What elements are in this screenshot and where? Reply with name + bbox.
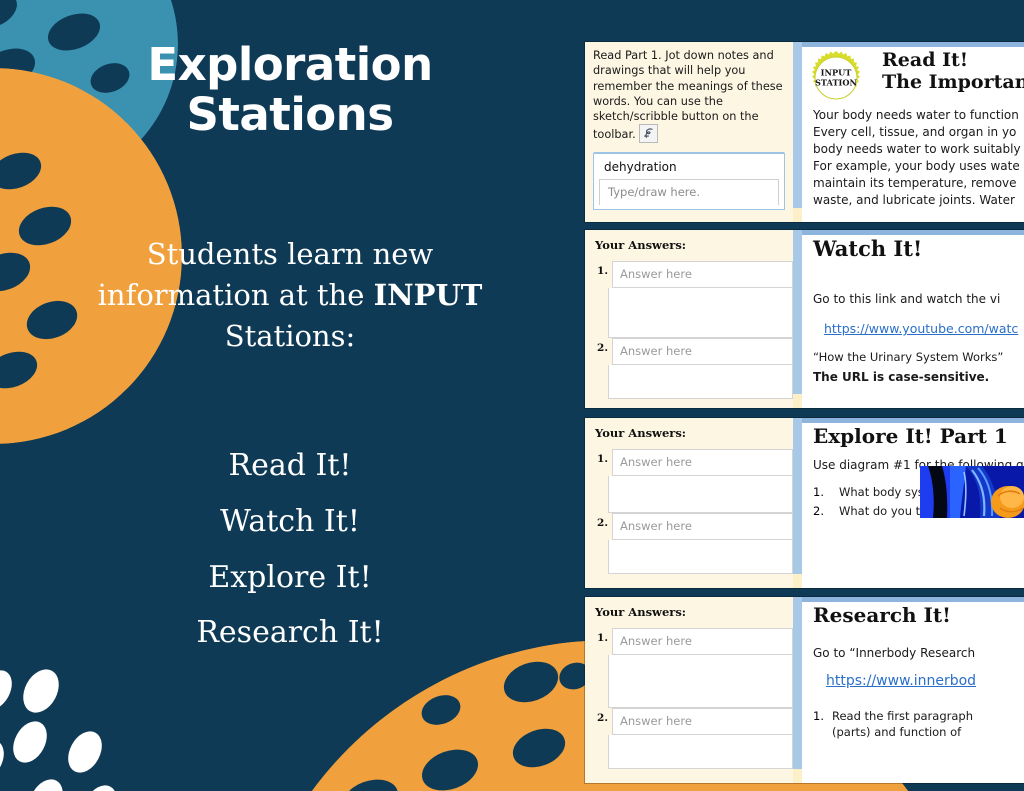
answer-input-1[interactable]: Answer here [612,449,793,476]
url-case-note: The URL is case-sensitive. [813,370,1024,384]
question-number: 2. [813,504,839,518]
question-text-continuation: (parts) and function of [832,725,961,739]
slide-canvas: Exploration Stations Students learn new … [0,0,1024,791]
body-line: For example, your body uses wate [813,158,1024,175]
answer-input-1[interactable]: Answer here [612,628,793,655]
answer-number: 1. [593,261,612,277]
worksheet-heading-line-1: Read It! [882,49,1024,71]
worksheet-pane: Research It! Go to “Innerbody Research h… [802,597,1024,783]
body-line: Every cell, tissue, and organ in yo [813,124,1024,141]
answer-row: 2. Answer here [593,708,793,735]
answer-row: 1. Answer here [593,449,793,476]
answer-number: 2. [593,708,612,724]
answer-textarea-body-2[interactable] [608,540,793,574]
answer-row: 2. Answer here [593,513,793,540]
answer-textarea-body-1[interactable] [608,476,793,513]
slide-text-column: Exploration Stations Students learn new … [0,0,580,791]
answers-pane: Your Answers: 1. Answer here 2. Answer h… [585,597,793,783]
vocab-word-card[interactable]: dehydration Type/draw here. [593,152,785,210]
worksheet-body: Explore It! Part 1 Use diagram #1 for th… [802,418,1024,518]
worksheet-body: Research It! Go to “Innerbody Research h… [802,597,1024,739]
worksheet-pane: Explore It! Part 1 Use diagram #1 for th… [802,418,1024,588]
answers-pane: Your Answers: 1. Answer here 2. Answer h… [585,230,793,408]
answer-textarea-body-1[interactable] [608,655,793,708]
screenshot-explore-it[interactable]: Your Answers: 1. Answer here 2. Answer h… [585,418,1024,588]
answer-number: 1. [593,628,612,644]
answer-number: 1. [593,449,612,465]
title-line-1: Exploration [147,38,432,91]
station-item-explore-it: Explore It! [40,550,540,606]
worksheet-heading-line-2: The Importance [882,71,1024,93]
station-item-watch-it: Watch It! [40,494,540,550]
subtitle-part-2: Stations: [225,319,356,353]
worksheet-body: INPUT STATION Read It! The Importance Yo… [802,42,1024,209]
answers-heading: Your Answers: [593,605,793,628]
question-number: 1. [813,709,832,723]
body-line: maintain its temperature, remove [813,175,1024,192]
badge-line-1: INPUT [821,68,853,78]
subtitle: Students learn new information at the IN… [70,234,510,358]
screenshot-watch-it[interactable]: Your Answers: 1. Answer here 2. Answer h… [585,230,1024,408]
watch-intro: Go to this link and watch the vi [813,291,1024,308]
notes-pane: Read Part 1. Jot down notes and drawings… [585,42,793,222]
answer-number: 2. [593,338,612,354]
question-row: 1. Read the first paragraph [813,709,1024,723]
pane-divider [793,230,802,408]
answer-textarea-body-2[interactable] [608,735,793,769]
worksheet-heading: Research It! [813,604,1024,627]
answer-row: 1. Answer here [593,628,793,655]
pane-divider [793,597,802,783]
anatomy-diagram-thumbnail [920,466,1024,518]
answers-heading: Your Answers: [593,238,793,261]
station-list: Read It! Watch It! Explore It! Research … [40,438,540,661]
screenshot-read-it[interactable]: Read Part 1. Jot down notes and drawings… [585,42,1024,222]
body-line: waste, and lubricate joints. Water [813,192,1024,209]
vocab-term: dehydration [594,154,784,179]
badge-line-2: STATION [815,78,858,88]
body-line: body needs water to work suitably [813,141,1024,158]
answer-row: 2. Answer here [593,338,793,365]
answers-pane: Your Answers: 1. Answer here 2. Answer h… [585,418,793,588]
answer-textarea-body-2[interactable] [608,365,793,399]
answer-number: 2. [593,513,612,529]
vocab-draw-input[interactable]: Type/draw here. [599,179,779,205]
worksheet-heading: Watch It! [813,237,1024,261]
worksheet-body: Watch It! Go to this link and watch the … [802,230,1024,384]
question-continuation: (parts) and function of [832,725,1024,739]
answers-heading: Your Answers: [593,426,793,449]
question-number: 1. [813,485,839,499]
screenshot-research-it[interactable]: Your Answers: 1. Answer here 2. Answer h… [585,597,1024,783]
research-link[interactable]: https://www.innerbod [826,673,976,689]
video-title: “How the Urinary System Works” [813,350,1024,364]
answer-input-2[interactable]: Answer here [612,513,793,540]
answer-input-2[interactable]: Answer here [612,338,793,365]
input-station-badge: INPUT STATION [808,50,864,106]
screenshot-stack: Read Part 1. Jot down notes and drawings… [585,0,1024,791]
answer-input-1[interactable]: Answer here [612,261,793,288]
answer-textarea-body-1[interactable] [608,288,793,338]
subtitle-strong: INPUT [374,278,483,312]
answer-input-2[interactable]: Answer here [612,708,793,735]
question-text: Read the first paragraph [832,709,973,723]
title-line-2: Stations [187,88,394,141]
worksheet-heading: Explore It! Part 1 [813,425,1024,448]
answer-row: 1. Answer here [593,261,793,288]
station-item-research-it: Research It! [40,605,540,661]
station-item-read-it: Read It! [40,438,540,494]
body-line: Your body needs water to function [813,107,1024,124]
instructions-text: Read Part 1. Jot down notes and drawings… [593,48,785,143]
page-title: Exploration Stations [0,40,580,141]
worksheet-pane: INPUT STATION Read It! The Importance Yo… [802,42,1024,222]
pane-divider [793,42,802,222]
pane-divider [793,418,802,588]
research-intro: Go to “Innerbody Research [813,645,1024,662]
video-link[interactable]: https://www.youtube.com/watc [824,321,1018,336]
worksheet-pane: Watch It! Go to this link and watch the … [802,230,1024,408]
scribble-icon[interactable] [639,124,658,143]
